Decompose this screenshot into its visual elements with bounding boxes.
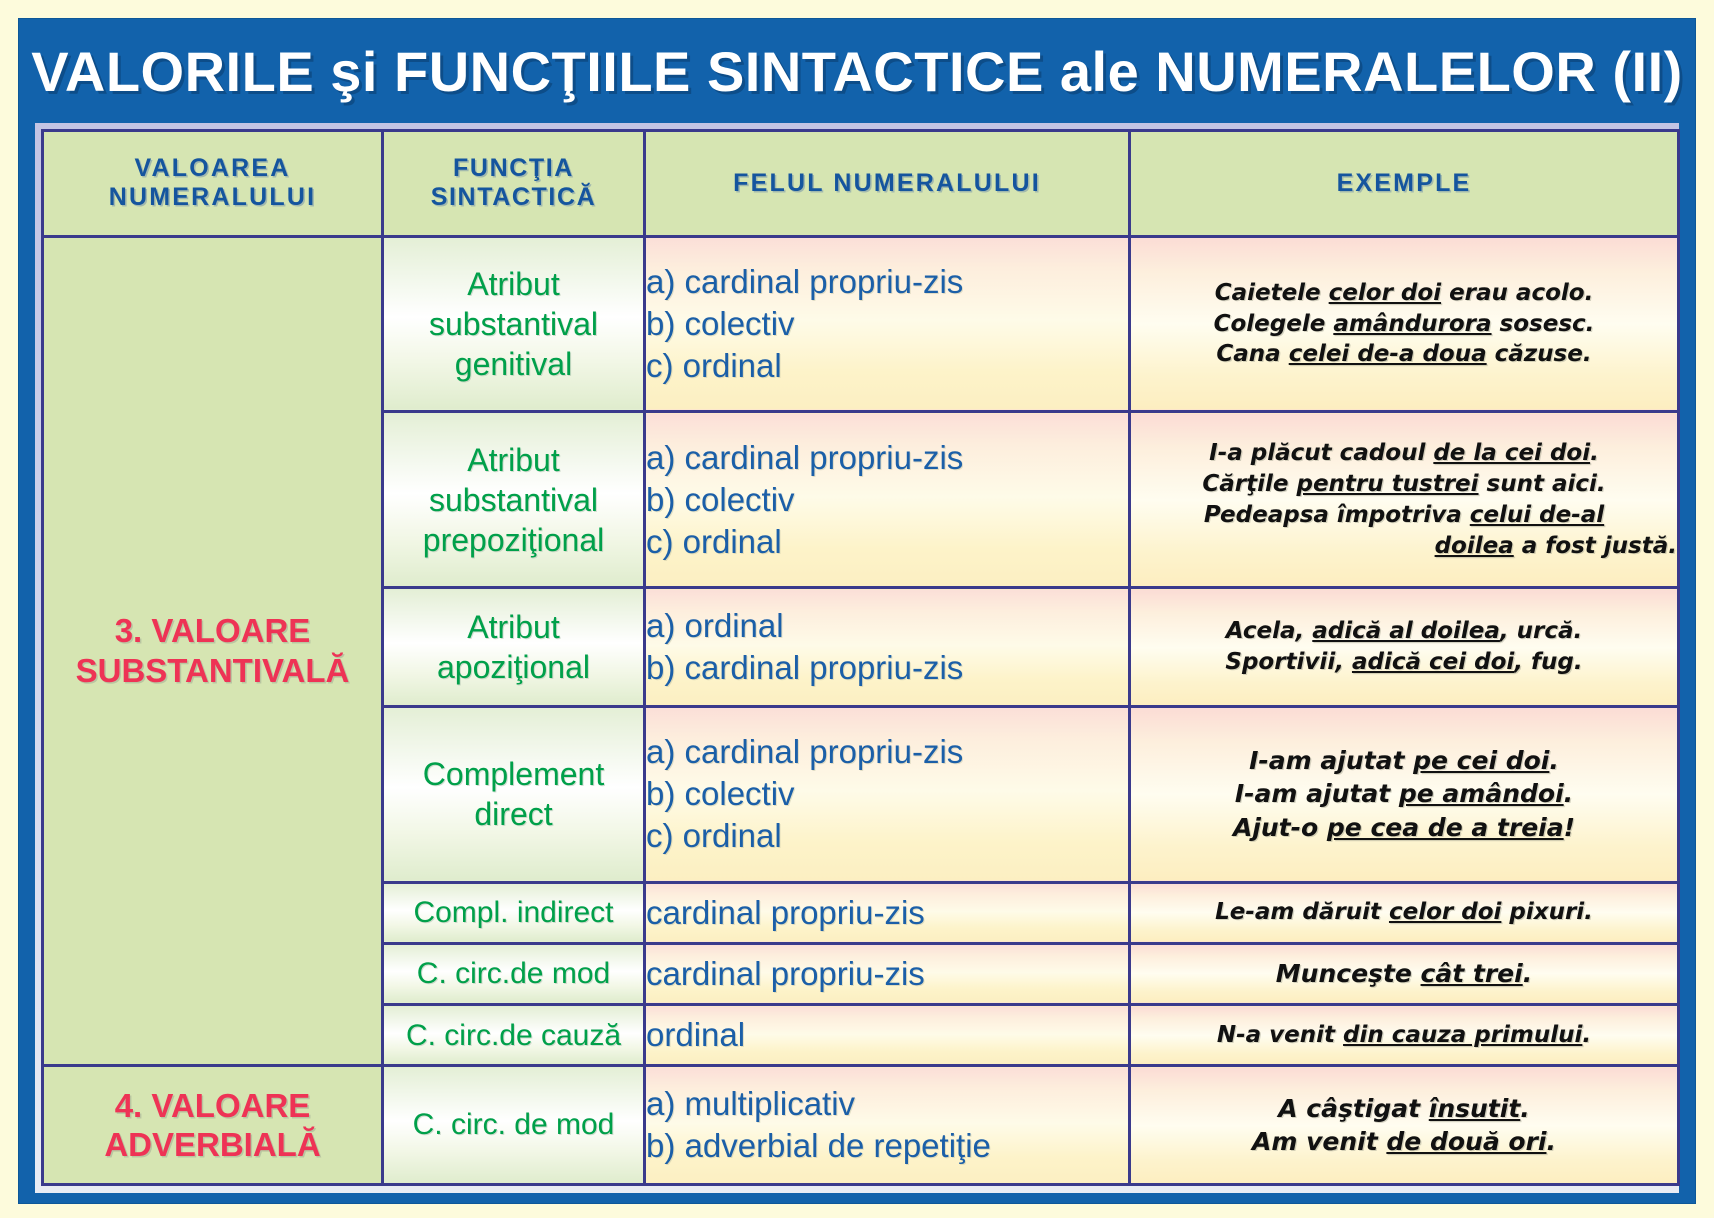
kind-label: b) colectiv (646, 479, 1128, 521)
example-text: sunt aici. (1479, 471, 1606, 497)
example-cell: Munceşte cât trei. (1130, 943, 1679, 1004)
function-cell: Atributsubstantivalprepoziţional (383, 412, 645, 588)
example-cell: N-a venit din cauza primului. (1130, 1005, 1679, 1066)
value-label: SUBSTANTIVALĂ (44, 651, 381, 691)
function-label: C. circ.de mod (384, 955, 643, 993)
example-cell: I-a plăcut cadoul de la cei doi.Cărţile … (1130, 412, 1679, 588)
kind-label: b) adverbial de repetiţie (646, 1125, 1128, 1167)
example-highlight: pe cea de a treia (1327, 813, 1564, 842)
example-highlight: de două ori (1386, 1127, 1546, 1156)
example-sentence: I-a plăcut cadoul de la cei doi. (1131, 438, 1677, 469)
example-sentence: Le-am dăruit celor doi pixuri. (1131, 897, 1677, 928)
example-text: I-am ajutat (1249, 746, 1413, 775)
blue-frame: VALORILE şi FUNCŢIILE SINTACTICE ale NUM… (18, 18, 1696, 1204)
example-highlight: adică cei doi (1352, 649, 1514, 675)
example-text: I-a plăcut cadoul (1209, 440, 1433, 466)
header-label: NUMERALULUI (48, 183, 377, 213)
example-sentence: Ajut-o pe cea de a treia! (1131, 811, 1677, 845)
example-sentence: Acela, adică al doilea, urcă. (1131, 616, 1677, 647)
kind-label: b) colectiv (646, 303, 1128, 345)
kind-cell: a) multiplicativb) adverbial de repetiţi… (645, 1066, 1130, 1185)
example-sentence: Munceşte cât trei. (1131, 957, 1677, 991)
function-label: substantival (384, 304, 643, 344)
example-highlight: de la cei doi (1433, 440, 1590, 466)
function-label: apoziţional (384, 647, 643, 687)
function-label: Complement (384, 754, 643, 794)
example-text: erau acolo. (1441, 280, 1593, 306)
function-label: prepoziţional (384, 520, 643, 560)
example-highlight: celor doi (1329, 280, 1441, 306)
example-text: Caietele (1215, 280, 1329, 306)
kind-label: cardinal propriu-zis (646, 892, 1128, 934)
example-highlight: din cauza primului (1343, 1022, 1582, 1048)
example-text: . (1546, 1127, 1556, 1156)
example-sentence: I-am ajutat pe amândoi. (1131, 777, 1677, 811)
example-text: . (1549, 746, 1559, 775)
value-cell-3: 3. VALOARESUBSTANTIVALĂ (43, 236, 383, 1066)
kind-label: c) ordinal (646, 345, 1128, 387)
kind-cell: a) cardinal propriu-zisb) colectivc) ord… (645, 412, 1130, 588)
example-highlight: cât trei (1421, 959, 1523, 988)
example-sentence: I-am ajutat pe cei doi. (1131, 744, 1677, 778)
page-title: VALORILE şi FUNCŢIILE SINTACTICE ale NUM… (31, 39, 1683, 104)
kind-label: cardinal propriu-zis (646, 953, 1128, 995)
example-sentence: Cana celei de-a doua căzuse. (1131, 339, 1677, 370)
header-cell-valoarea: VALOAREANUMERALULUI (43, 131, 383, 237)
example-sentence: Caietele celor doi erau acolo. (1131, 278, 1677, 309)
header-cell-felul: FELUL NUMERALULUI (645, 131, 1130, 237)
function-label: substantival (384, 480, 643, 520)
kind-label: c) ordinal (646, 521, 1128, 563)
example-sentence: Pedeapsa împotriva celui de-al (1131, 500, 1677, 531)
function-label: Atribut (384, 264, 643, 304)
table-header-row: VALOAREANUMERALULUIFUNCŢIASINTACTICĂFELU… (43, 131, 1679, 237)
example-sentence: Cărţile pentru tustrei sunt aici. (1131, 469, 1677, 500)
example-text: Ajut-o (1233, 813, 1327, 842)
example-sentence: A câştigat însutit. (1131, 1092, 1677, 1126)
example-highlight: adică al doilea (1312, 618, 1500, 644)
value-cell-4: 4. VALOAREADVERBIALĂ (43, 1066, 383, 1185)
example-text: Colegele (1214, 311, 1334, 337)
numerals-table: VALOAREANUMERALULUIFUNCŢIASINTACTICĂFELU… (41, 129, 1680, 1186)
kind-label: a) cardinal propriu-zis (646, 261, 1128, 303)
kind-cell: ordinal (645, 1005, 1130, 1066)
header-label: EXEMPLE (1135, 169, 1673, 199)
example-text: N-a venit (1217, 1022, 1343, 1048)
example-text: . (1564, 779, 1574, 808)
example-highlight: celei de-a doua (1289, 341, 1487, 367)
function-label: genitival (384, 344, 643, 384)
kind-label: b) colectiv (646, 773, 1128, 815)
example-text: I-am ajutat (1235, 779, 1399, 808)
example-cell: Caietele celor doi erau acolo.Colegele a… (1130, 236, 1679, 412)
example-highlight: amândurora (1333, 311, 1491, 337)
kind-cell: cardinal propriu-zis (645, 943, 1130, 1004)
function-label: Atribut (384, 440, 643, 480)
example-sentence: Am venit de două ori. (1131, 1125, 1677, 1159)
example-cell: I-am ajutat pe cei doi.I-am ajutat pe am… (1130, 706, 1679, 882)
example-text: , urcă. (1500, 618, 1582, 644)
example-text: Le-am dăruit (1215, 899, 1389, 925)
function-cell: C. circ.de cauză (383, 1005, 645, 1066)
example-text: Sportivii, (1225, 649, 1352, 675)
poster-root: VALORILE şi FUNCŢIILE SINTACTICE ale NUM… (0, 0, 1714, 1218)
example-sentence: doilea a fost justă. (1131, 531, 1677, 562)
kind-label: b) cardinal propriu-zis (646, 647, 1128, 689)
kind-label: a) multiplicativ (646, 1083, 1128, 1125)
example-highlight: celor doi (1389, 899, 1501, 925)
header-cell-functia: FUNCŢIASINTACTICĂ (383, 131, 645, 237)
example-text: . (1520, 1094, 1530, 1123)
example-text: . (1590, 440, 1599, 466)
kind-label: c) ordinal (646, 815, 1128, 857)
example-highlight: pentru tustrei (1296, 471, 1478, 497)
example-text: A câştigat (1278, 1094, 1429, 1123)
example-text: a fost justă. (1514, 533, 1677, 559)
header-label: FUNCŢIA (388, 154, 639, 184)
example-highlight: doilea (1435, 533, 1514, 559)
example-highlight: însutit (1429, 1094, 1521, 1123)
example-text: ! (1564, 813, 1575, 842)
function-label: Compl. indirect (384, 894, 643, 932)
value-label: 3. VALOARE (44, 611, 381, 651)
example-text: Acela, (1226, 618, 1312, 644)
kind-cell: cardinal propriu-zis (645, 882, 1130, 943)
function-cell: C. circ.de mod (383, 943, 645, 1004)
kind-cell: a) ordinalb) cardinal propriu-zis (645, 588, 1130, 707)
example-text: sosesc. (1492, 311, 1595, 337)
table-body: VALOAREANUMERALULUIFUNCŢIASINTACTICĂFELU… (43, 131, 1679, 1185)
value-label: ADVERBIALĂ (44, 1125, 381, 1165)
example-highlight: celui de-al (1470, 502, 1604, 528)
example-text: Pedeapsa împotriva (1204, 502, 1470, 528)
example-text: . (1523, 959, 1533, 988)
example-text: Cărţile (1202, 471, 1296, 497)
header-label: SINTACTICĂ (388, 183, 639, 213)
example-cell: Acela, adică al doilea, urcă.Sportivii, … (1130, 588, 1679, 707)
example-highlight: pe cei doi (1413, 746, 1549, 775)
header-label: FELUL NUMERALULUI (650, 169, 1124, 199)
kind-cell: a) cardinal propriu-zisb) colectivc) ord… (645, 236, 1130, 412)
title-bar: VALORILE şi FUNCŢIILE SINTACTICE ale NUM… (19, 19, 1695, 123)
example-text: . (1582, 1022, 1591, 1048)
kind-label: a) cardinal propriu-zis (646, 437, 1128, 479)
example-sentence: N-a venit din cauza primului. (1131, 1020, 1677, 1051)
example-sentence: Colegele amândurora sosesc. (1131, 309, 1677, 340)
function-cell: Complementdirect (383, 706, 645, 882)
example-text: căzuse. (1487, 341, 1592, 367)
value-label: 4. VALOARE (44, 1086, 381, 1126)
header-label: VALOAREA (48, 154, 377, 184)
example-text: Am venit (1252, 1127, 1386, 1156)
kind-cell: a) cardinal propriu-zisb) colectivc) ord… (645, 706, 1130, 882)
example-sentence: Sportivii, adică cei doi, fug. (1131, 647, 1677, 678)
table-row: 3. VALOARESUBSTANTIVALĂAtributsubstantiv… (43, 236, 1679, 412)
table-wrapper: VALOAREANUMERALULUIFUNCŢIASINTACTICĂFELU… (35, 123, 1679, 1193)
example-highlight: pe amândoi (1399, 779, 1564, 808)
function-label: C. circ.de cauză (384, 1017, 643, 1055)
function-cell: C. circ. de mod (383, 1066, 645, 1185)
function-cell: Atributapoziţional (383, 588, 645, 707)
function-cell: Compl. indirect (383, 882, 645, 943)
example-text: Cana (1216, 341, 1288, 367)
example-text: pixuri. (1501, 899, 1593, 925)
kind-label: ordinal (646, 1014, 1128, 1056)
function-cell: Atributsubstantivalgenitival (383, 236, 645, 412)
example-text: , fug. (1514, 649, 1582, 675)
example-text: Munceşte (1276, 959, 1421, 988)
kind-label: a) ordinal (646, 605, 1128, 647)
kind-label: a) cardinal propriu-zis (646, 731, 1128, 773)
table-row: 4. VALOAREADVERBIALĂC. circ. de moda) mu… (43, 1066, 1679, 1185)
function-label: Atribut (384, 607, 643, 647)
header-cell-exemple: EXEMPLE (1130, 131, 1679, 237)
function-label: direct (384, 794, 643, 834)
example-cell: Le-am dăruit celor doi pixuri. (1130, 882, 1679, 943)
function-label: C. circ. de mod (384, 1106, 643, 1144)
example-cell: A câştigat însutit.Am venit de două ori. (1130, 1066, 1679, 1185)
